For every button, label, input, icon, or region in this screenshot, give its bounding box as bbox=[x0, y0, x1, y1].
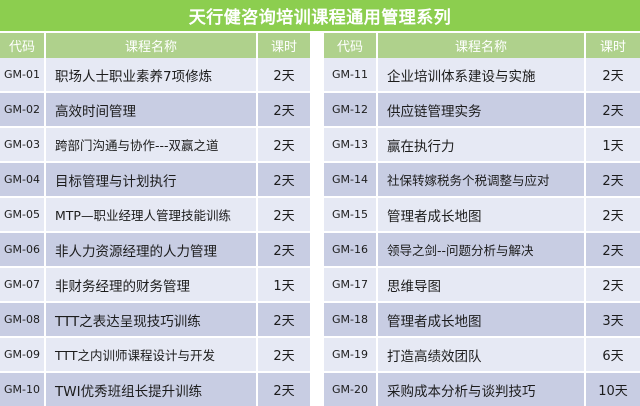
cell-course-name: 非财务经理的财务管理 bbox=[46, 268, 258, 301]
table-row[interactable]: GM-08TTT之表达呈现技巧训练2天 bbox=[0, 303, 310, 338]
course-catalog-page: 天行健咨询培训课程通用管理系列 代码 课程名称 课时 GM-01职场人士职业素养… bbox=[0, 0, 640, 406]
cell-course-name: TTT之内训师课程设计与开发 bbox=[46, 338, 258, 371]
cell-course-name: 社保转嫁税务个税调整与应对 bbox=[378, 163, 586, 196]
cell-hours: 10天 bbox=[586, 373, 640, 406]
cell-course-name: TWI优秀班组长提升训练 bbox=[46, 373, 258, 406]
cell-hours: 2天 bbox=[586, 58, 640, 91]
cell-hours: 1天 bbox=[258, 268, 310, 301]
page-title: 天行健咨询培训课程通用管理系列 bbox=[0, 0, 640, 31]
cell-hours: 2天 bbox=[586, 93, 640, 126]
cell-hours: 2天 bbox=[258, 303, 310, 336]
cell-course-name: 领导之剑--问题分析与解决 bbox=[378, 233, 586, 266]
cell-course-name: 非人力资源经理的人力管理 bbox=[46, 233, 258, 266]
cell-hours: 2天 bbox=[258, 198, 310, 231]
cell-code: GM-12 bbox=[324, 93, 378, 126]
cell-course-name: 企业培训体系建设与实施 bbox=[378, 58, 586, 91]
cell-code: GM-03 bbox=[0, 128, 46, 161]
course-tables: 代码 课程名称 课时 GM-01职场人士职业素养7项修炼2天GM-02高效时间管… bbox=[0, 31, 640, 406]
cell-code: GM-09 bbox=[0, 338, 46, 371]
cell-code: GM-18 bbox=[324, 303, 378, 336]
cell-code: GM-11 bbox=[324, 58, 378, 91]
cell-course-name: TTT之表达呈现技巧训练 bbox=[46, 303, 258, 336]
cell-hours: 3天 bbox=[586, 303, 640, 336]
cell-code: GM-01 bbox=[0, 58, 46, 91]
table-row[interactable]: GM-15管理者成长地图2天 bbox=[324, 198, 640, 233]
right-table-body: GM-11企业培训体系建设与实施2天GM-12供应链管理实务2天GM-13赢在执… bbox=[324, 58, 640, 406]
cell-code: GM-16 bbox=[324, 233, 378, 266]
left-header-code: 代码 bbox=[0, 33, 46, 58]
left-table-body: GM-01职场人士职业素养7项修炼2天GM-02高效时间管理2天GM-03跨部门… bbox=[0, 58, 310, 406]
table-row[interactable]: GM-11企业培训体系建设与实施2天 bbox=[324, 58, 640, 93]
cell-code: GM-15 bbox=[324, 198, 378, 231]
cell-course-name: 职场人士职业素养7项修炼 bbox=[46, 58, 258, 91]
table-row[interactable]: GM-14社保转嫁税务个税调整与应对2天 bbox=[324, 163, 640, 198]
cell-hours: 2天 bbox=[258, 93, 310, 126]
table-row[interactable]: GM-05MTP—职业经理人管理技能训练2天 bbox=[0, 198, 310, 233]
cell-hours: 2天 bbox=[258, 163, 310, 196]
table-row[interactable]: GM-02高效时间管理2天 bbox=[0, 93, 310, 128]
cell-hours: 2天 bbox=[258, 58, 310, 91]
table-row[interactable]: GM-07非财务经理的财务管理1天 bbox=[0, 268, 310, 303]
table-gutter bbox=[310, 31, 324, 406]
table-row[interactable]: GM-03跨部门沟通与协作---双赢之道2天 bbox=[0, 128, 310, 163]
cell-course-name: 管理者成长地图 bbox=[378, 198, 586, 231]
table-row[interactable]: GM-04目标管理与计划执行2天 bbox=[0, 163, 310, 198]
left-header-hours: 课时 bbox=[258, 33, 310, 58]
cell-hours: 2天 bbox=[258, 373, 310, 406]
table-row[interactable]: GM-09TTT之内训师课程设计与开发2天 bbox=[0, 338, 310, 373]
cell-course-name: 跨部门沟通与协作---双赢之道 bbox=[46, 128, 258, 161]
cell-code: GM-06 bbox=[0, 233, 46, 266]
cell-code: GM-04 bbox=[0, 163, 46, 196]
cell-code: GM-17 bbox=[324, 268, 378, 301]
cell-code: GM-08 bbox=[0, 303, 46, 336]
cell-course-name: 供应链管理实务 bbox=[378, 93, 586, 126]
cell-hours: 2天 bbox=[258, 128, 310, 161]
cell-course-name: 管理者成长地图 bbox=[378, 303, 586, 336]
cell-hours: 2天 bbox=[586, 268, 640, 301]
cell-course-name: 高效时间管理 bbox=[46, 93, 258, 126]
table-row[interactable]: GM-06非人力资源经理的人力管理2天 bbox=[0, 233, 310, 268]
cell-hours: 2天 bbox=[586, 163, 640, 196]
table-row[interactable]: GM-12供应链管理实务2天 bbox=[324, 93, 640, 128]
cell-course-name: 思维导图 bbox=[378, 268, 586, 301]
cell-code: GM-19 bbox=[324, 338, 378, 371]
table-row[interactable]: GM-13赢在执行力1天 bbox=[324, 128, 640, 163]
right-course-table: 代码 课程名称 课时 GM-11企业培训体系建设与实施2天GM-12供应链管理实… bbox=[324, 31, 640, 406]
cell-code: GM-14 bbox=[324, 163, 378, 196]
cell-code: GM-02 bbox=[0, 93, 46, 126]
table-row[interactable]: GM-10TWI优秀班组长提升训练2天 bbox=[0, 373, 310, 406]
right-header-name: 课程名称 bbox=[378, 33, 586, 58]
left-header-name: 课程名称 bbox=[46, 33, 258, 58]
left-course-table: 代码 课程名称 课时 GM-01职场人士职业素养7项修炼2天GM-02高效时间管… bbox=[0, 31, 310, 406]
table-row[interactable]: GM-18管理者成长地图3天 bbox=[324, 303, 640, 338]
table-row[interactable]: GM-19打造高绩效团队6天 bbox=[324, 338, 640, 373]
cell-hours: 1天 bbox=[586, 128, 640, 161]
cell-course-name: 赢在执行力 bbox=[378, 128, 586, 161]
right-header-hours: 课时 bbox=[586, 33, 640, 58]
cell-hours: 2天 bbox=[258, 233, 310, 266]
right-header-code: 代码 bbox=[324, 33, 378, 58]
left-table-header-row: 代码 课程名称 课时 bbox=[0, 31, 310, 58]
cell-code: GM-05 bbox=[0, 198, 46, 231]
cell-course-name: 目标管理与计划执行 bbox=[46, 163, 258, 196]
table-row[interactable]: GM-20采购成本分析与谈判技巧10天 bbox=[324, 373, 640, 406]
table-row[interactable]: GM-16领导之剑--问题分析与解决2天 bbox=[324, 233, 640, 268]
cell-code: GM-20 bbox=[324, 373, 378, 406]
table-row[interactable]: GM-17思维导图2天 bbox=[324, 268, 640, 303]
cell-course-name: 打造高绩效团队 bbox=[378, 338, 586, 371]
cell-code: GM-13 bbox=[324, 128, 378, 161]
cell-hours: 6天 bbox=[586, 338, 640, 371]
cell-code: GM-07 bbox=[0, 268, 46, 301]
cell-hours: 2天 bbox=[586, 198, 640, 231]
table-row[interactable]: GM-01职场人士职业素养7项修炼2天 bbox=[0, 58, 310, 93]
cell-course-name: MTP—职业经理人管理技能训练 bbox=[46, 198, 258, 231]
right-table-header-row: 代码 课程名称 课时 bbox=[324, 31, 640, 58]
cell-hours: 2天 bbox=[258, 338, 310, 371]
cell-code: GM-10 bbox=[0, 373, 46, 406]
cell-course-name: 采购成本分析与谈判技巧 bbox=[378, 373, 586, 406]
cell-hours: 2天 bbox=[586, 233, 640, 266]
